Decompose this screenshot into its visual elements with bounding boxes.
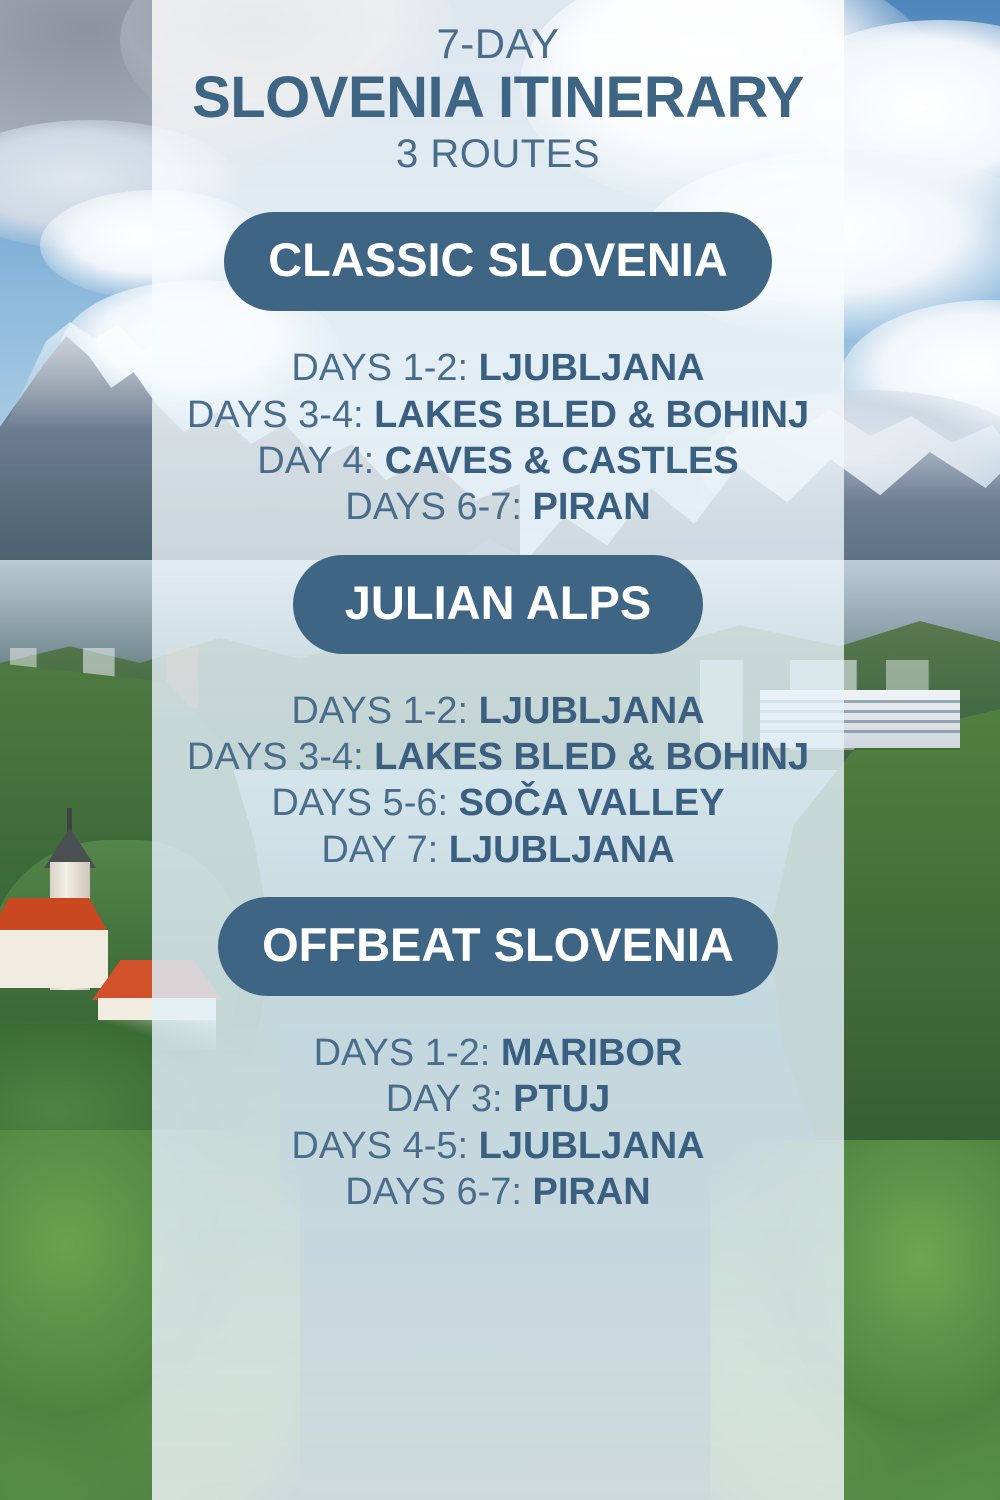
itinerary-item: DAYS 4-5: LJUBLJANA	[291, 1123, 704, 1169]
route-section-classic-slovenia: CLASSIC SLOVENIA DAYS 1-2: LJUBLJANA DAY…	[152, 212, 844, 530]
chapel-wall	[0, 930, 108, 988]
itinerary-destination: LJUBLJANA	[449, 829, 675, 871]
itinerary-destination: LAKES BLED & BOHINJ	[374, 394, 809, 436]
itinerary-destination: MARIBOR	[501, 1032, 683, 1074]
itinerary-item: DAY 3: PTUJ	[386, 1076, 611, 1122]
itinerary-day-label: DAYS 1-2:	[314, 1032, 491, 1074]
itinerary-day-label: DAYS 4-5:	[291, 1125, 468, 1167]
route-badge-offbeat-slovenia[interactable]: OFFBEAT SLOVENIA	[218, 897, 778, 996]
itinerary-list-classic-slovenia: DAYS 1-2: LJUBLJANA DAYS 3-4: LAKES BLED…	[178, 345, 818, 530]
header-kicker: 7-DAY	[436, 22, 559, 66]
route-section-julian-alps: JULIAN ALPS DAYS 1-2: LJUBLJANA DAYS 3-4…	[152, 555, 844, 873]
itinerary-list-offbeat-slovenia: DAYS 1-2: MARIBOR DAY 3: PTUJ DAYS 4-5: …	[178, 1030, 818, 1215]
itinerary-day-label: DAYS 5-6:	[271, 782, 448, 824]
itinerary-item: DAY 7: LJUBLJANA	[321, 827, 674, 873]
itinerary-day-label: DAYS 3-4:	[187, 394, 364, 436]
itinerary-item: DAYS 6-7: PIRAN	[345, 484, 651, 530]
itinerary-day-label: DAYS 6-7:	[345, 1171, 522, 1213]
itinerary-day-label: DAYS 6-7:	[345, 486, 522, 528]
itinerary-day-label: DAYS 1-2:	[291, 347, 468, 389]
itinerary-day-label: DAYS 1-2:	[291, 690, 468, 732]
itinerary-day-label: DAY 3:	[386, 1078, 503, 1120]
itinerary-destination: LJUBLJANA	[479, 1125, 705, 1167]
itinerary-destination: SOČA VALLEY	[459, 782, 725, 824]
route-badge-julian-alps[interactable]: JULIAN ALPS	[293, 555, 703, 654]
itinerary-item: DAYS 1-2: LJUBLJANA	[291, 688, 704, 734]
itinerary-destination: PIRAN	[533, 486, 651, 528]
itinerary-item: DAYS 6-7: PIRAN	[345, 1169, 651, 1215]
itinerary-destination: LJUBLJANA	[479, 690, 705, 732]
route-badge-classic-slovenia[interactable]: CLASSIC SLOVENIA	[224, 212, 772, 311]
itinerary-item: DAYS 1-2: MARIBOR	[314, 1030, 683, 1076]
itinerary-day-label: DAY 7:	[321, 829, 438, 871]
itinerary-day-label: DAY 4:	[257, 440, 374, 482]
itinerary-destination: LJUBLJANA	[479, 347, 705, 389]
itinerary-destination: PTUJ	[513, 1078, 610, 1120]
header-subtitle: 3 ROUTES	[396, 131, 600, 178]
itinerary-destination: CAVES & CASTLES	[385, 440, 739, 482]
itinerary-item: DAYS 5-6: SOČA VALLEY	[271, 780, 724, 826]
infographic-content: 7-DAY SLOVENIA ITINERARY 3 ROUTES CLASSI…	[152, 0, 844, 1500]
itinerary-destination: LAKES BLED & BOHINJ	[374, 736, 809, 778]
route-section-offbeat-slovenia: OFFBEAT SLOVENIA DAYS 1-2: MARIBOR DAY 3…	[152, 897, 844, 1215]
itinerary-item: DAYS 3-4: LAKES BLED & BOHINJ	[187, 392, 809, 438]
itinerary-day-label: DAYS 3-4:	[187, 736, 364, 778]
itinerary-destination: PIRAN	[533, 1171, 651, 1213]
chapel-roof	[0, 898, 108, 932]
itinerary-list-julian-alps: DAYS 1-2: LJUBLJANA DAYS 3-4: LAKES BLED…	[178, 688, 818, 873]
itinerary-item: DAYS 1-2: LJUBLJANA	[291, 345, 704, 391]
itinerary-item: DAYS 3-4: LAKES BLED & BOHINJ	[187, 734, 809, 780]
church-spire-icon	[67, 808, 72, 832]
itinerary-item: DAY 4: CAVES & CASTLES	[257, 438, 738, 484]
page-title: SLOVENIA ITINERARY	[192, 66, 804, 131]
